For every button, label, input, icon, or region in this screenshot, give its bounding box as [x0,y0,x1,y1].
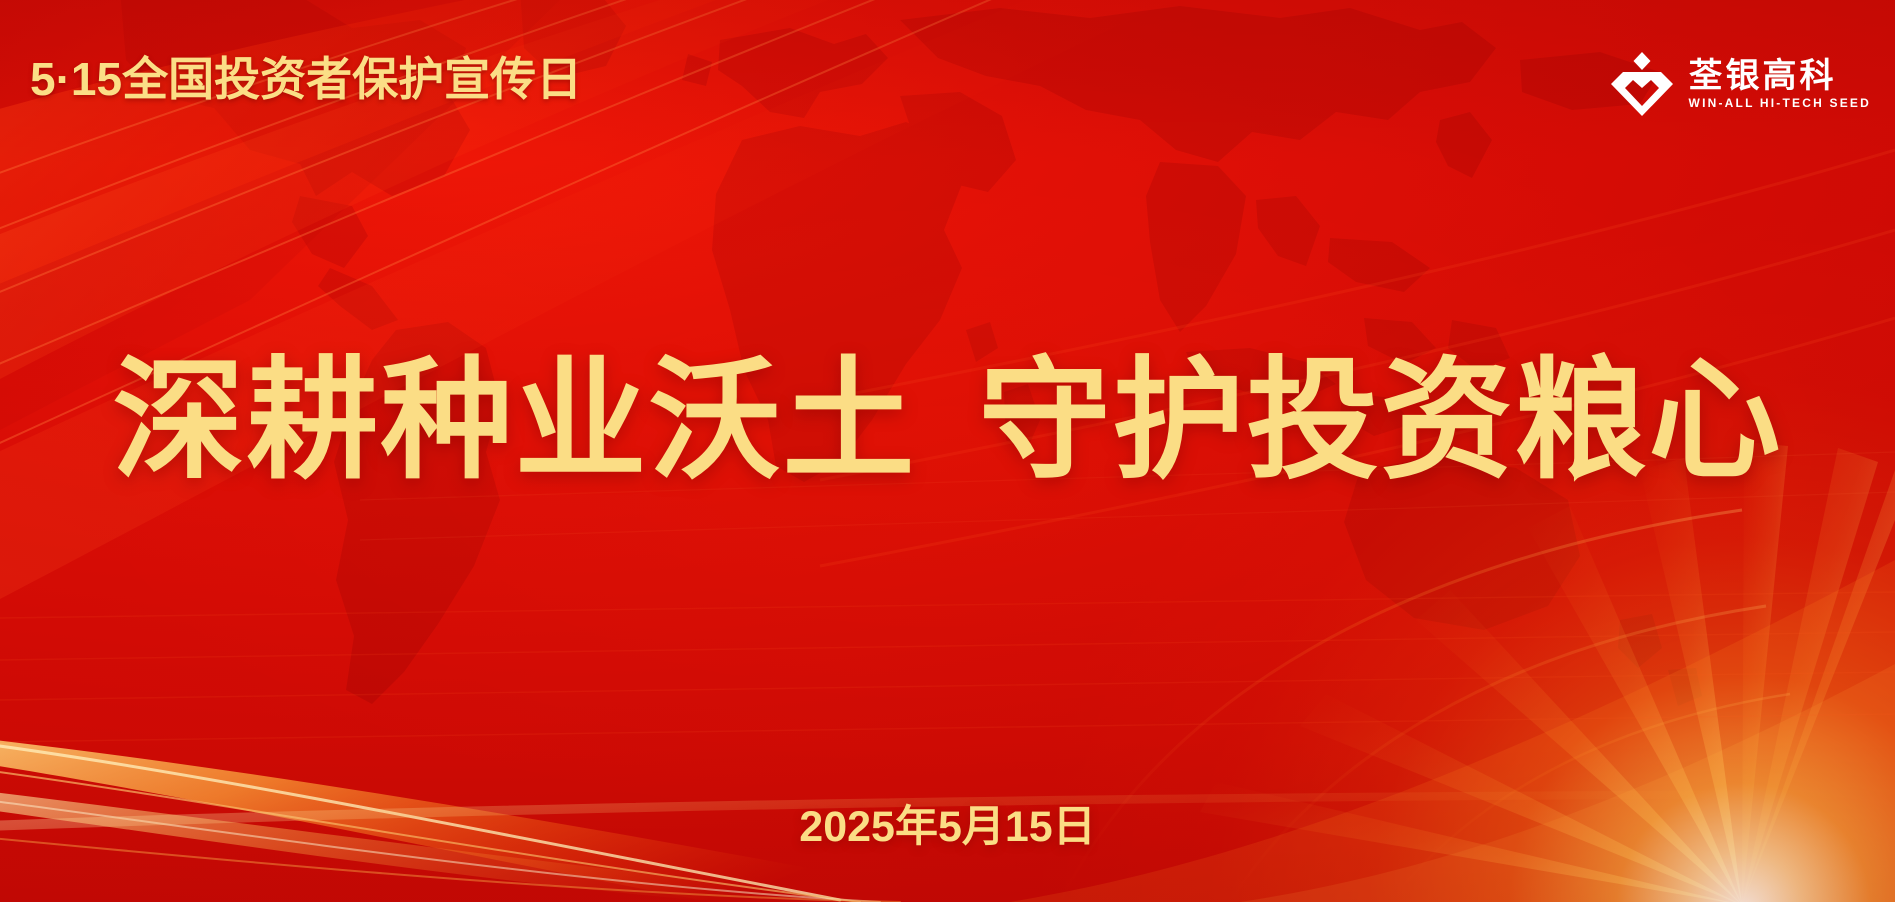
banner-content: 5·15全国投资者保护宣传日 荃银高科 WIN-ALL HI-TECH SEED… [0,0,1895,902]
investor-protection-banner: 5·15全国投资者保护宣传日 荃银高科 WIN-ALL HI-TECH SEED… [0,0,1895,902]
event-date: 2025年5月15日 [0,806,1895,849]
logo-company-name-cn: 荃银高科 [1689,59,1871,94]
campaign-eyebrow-title: 5·15全国投资者保护宣传日 [30,56,582,102]
logo-wordmark: 荃银高科 WIN-ALL HI-TECH SEED [1689,59,1871,109]
main-headline: 深耕种业沃土守护投资粮心 [0,355,1895,487]
headline-part-1: 深耕种业沃土 [113,347,917,494]
headline-part-2: 守护投资粮心 [979,347,1783,494]
chevron-diamond-icon [1609,50,1675,118]
company-logo: 荃银高科 WIN-ALL HI-TECH SEED [1609,50,1871,118]
logo-company-name-en: WIN-ALL HI-TECH SEED [1689,97,1871,109]
